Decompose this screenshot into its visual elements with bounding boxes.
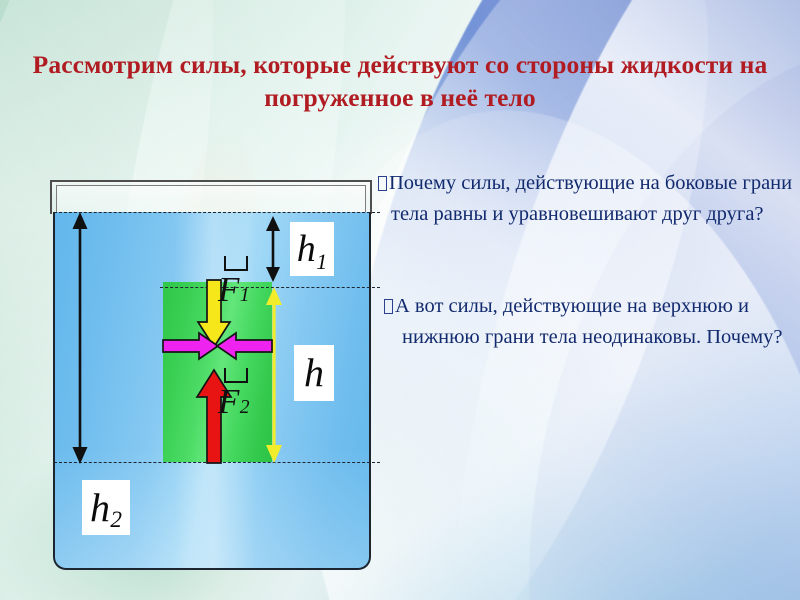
physics-diagram: F1 F2 h2 h1 h bbox=[50, 180, 380, 572]
measure-label-h2: h2 bbox=[82, 480, 130, 535]
force-subscript: 1 bbox=[240, 285, 250, 308]
vector-mark-icon bbox=[224, 368, 248, 383]
measure-subscript: 2 bbox=[110, 509, 122, 535]
h2-measure-arrow bbox=[68, 212, 92, 464]
bullet-text: А вот силы, действующие на верхнюю и ниж… bbox=[395, 295, 783, 348]
measure-label-h: h bbox=[294, 345, 334, 401]
bullet-list: Почему силы, действующие на боковые гран… bbox=[378, 168, 796, 352]
list-item: А вот силы, действующие на верхнюю и ниж… bbox=[378, 291, 796, 352]
measure-label-h1: h1 bbox=[290, 222, 334, 276]
h1-measure-arrow bbox=[262, 216, 284, 282]
bullet-marker-icon bbox=[378, 176, 387, 191]
force-symbol: F bbox=[218, 382, 239, 421]
force-label-f2: F2 bbox=[218, 384, 250, 419]
bullet-text: Почему силы, действующие на боковые гран… bbox=[389, 172, 792, 225]
vector-mark-icon bbox=[224, 256, 248, 271]
vessel-rim-inner bbox=[56, 185, 366, 212]
level-line-surface bbox=[54, 212, 380, 213]
force-right-face-arrow bbox=[216, 332, 272, 360]
bullet-marker-icon bbox=[384, 299, 393, 314]
list-item: Почему силы, действующие на боковые гран… bbox=[378, 168, 796, 229]
force-subscript: 2 bbox=[240, 397, 250, 420]
force-label-f1: F1 bbox=[218, 272, 250, 307]
measure-symbol: h bbox=[90, 488, 110, 528]
measure-symbol: h bbox=[304, 353, 324, 393]
measure-subscript: 1 bbox=[316, 251, 327, 276]
slide-canvas: Рассмотрим силы, которые действуют со ст… bbox=[0, 0, 800, 600]
slide-title: Рассмотрим силы, которые действуют со ст… bbox=[26, 48, 774, 114]
force-left-face-arrow bbox=[163, 332, 219, 360]
force-symbol: F bbox=[218, 270, 239, 309]
h-measure-arrow bbox=[262, 287, 286, 463]
measure-symbol: h bbox=[297, 230, 316, 268]
